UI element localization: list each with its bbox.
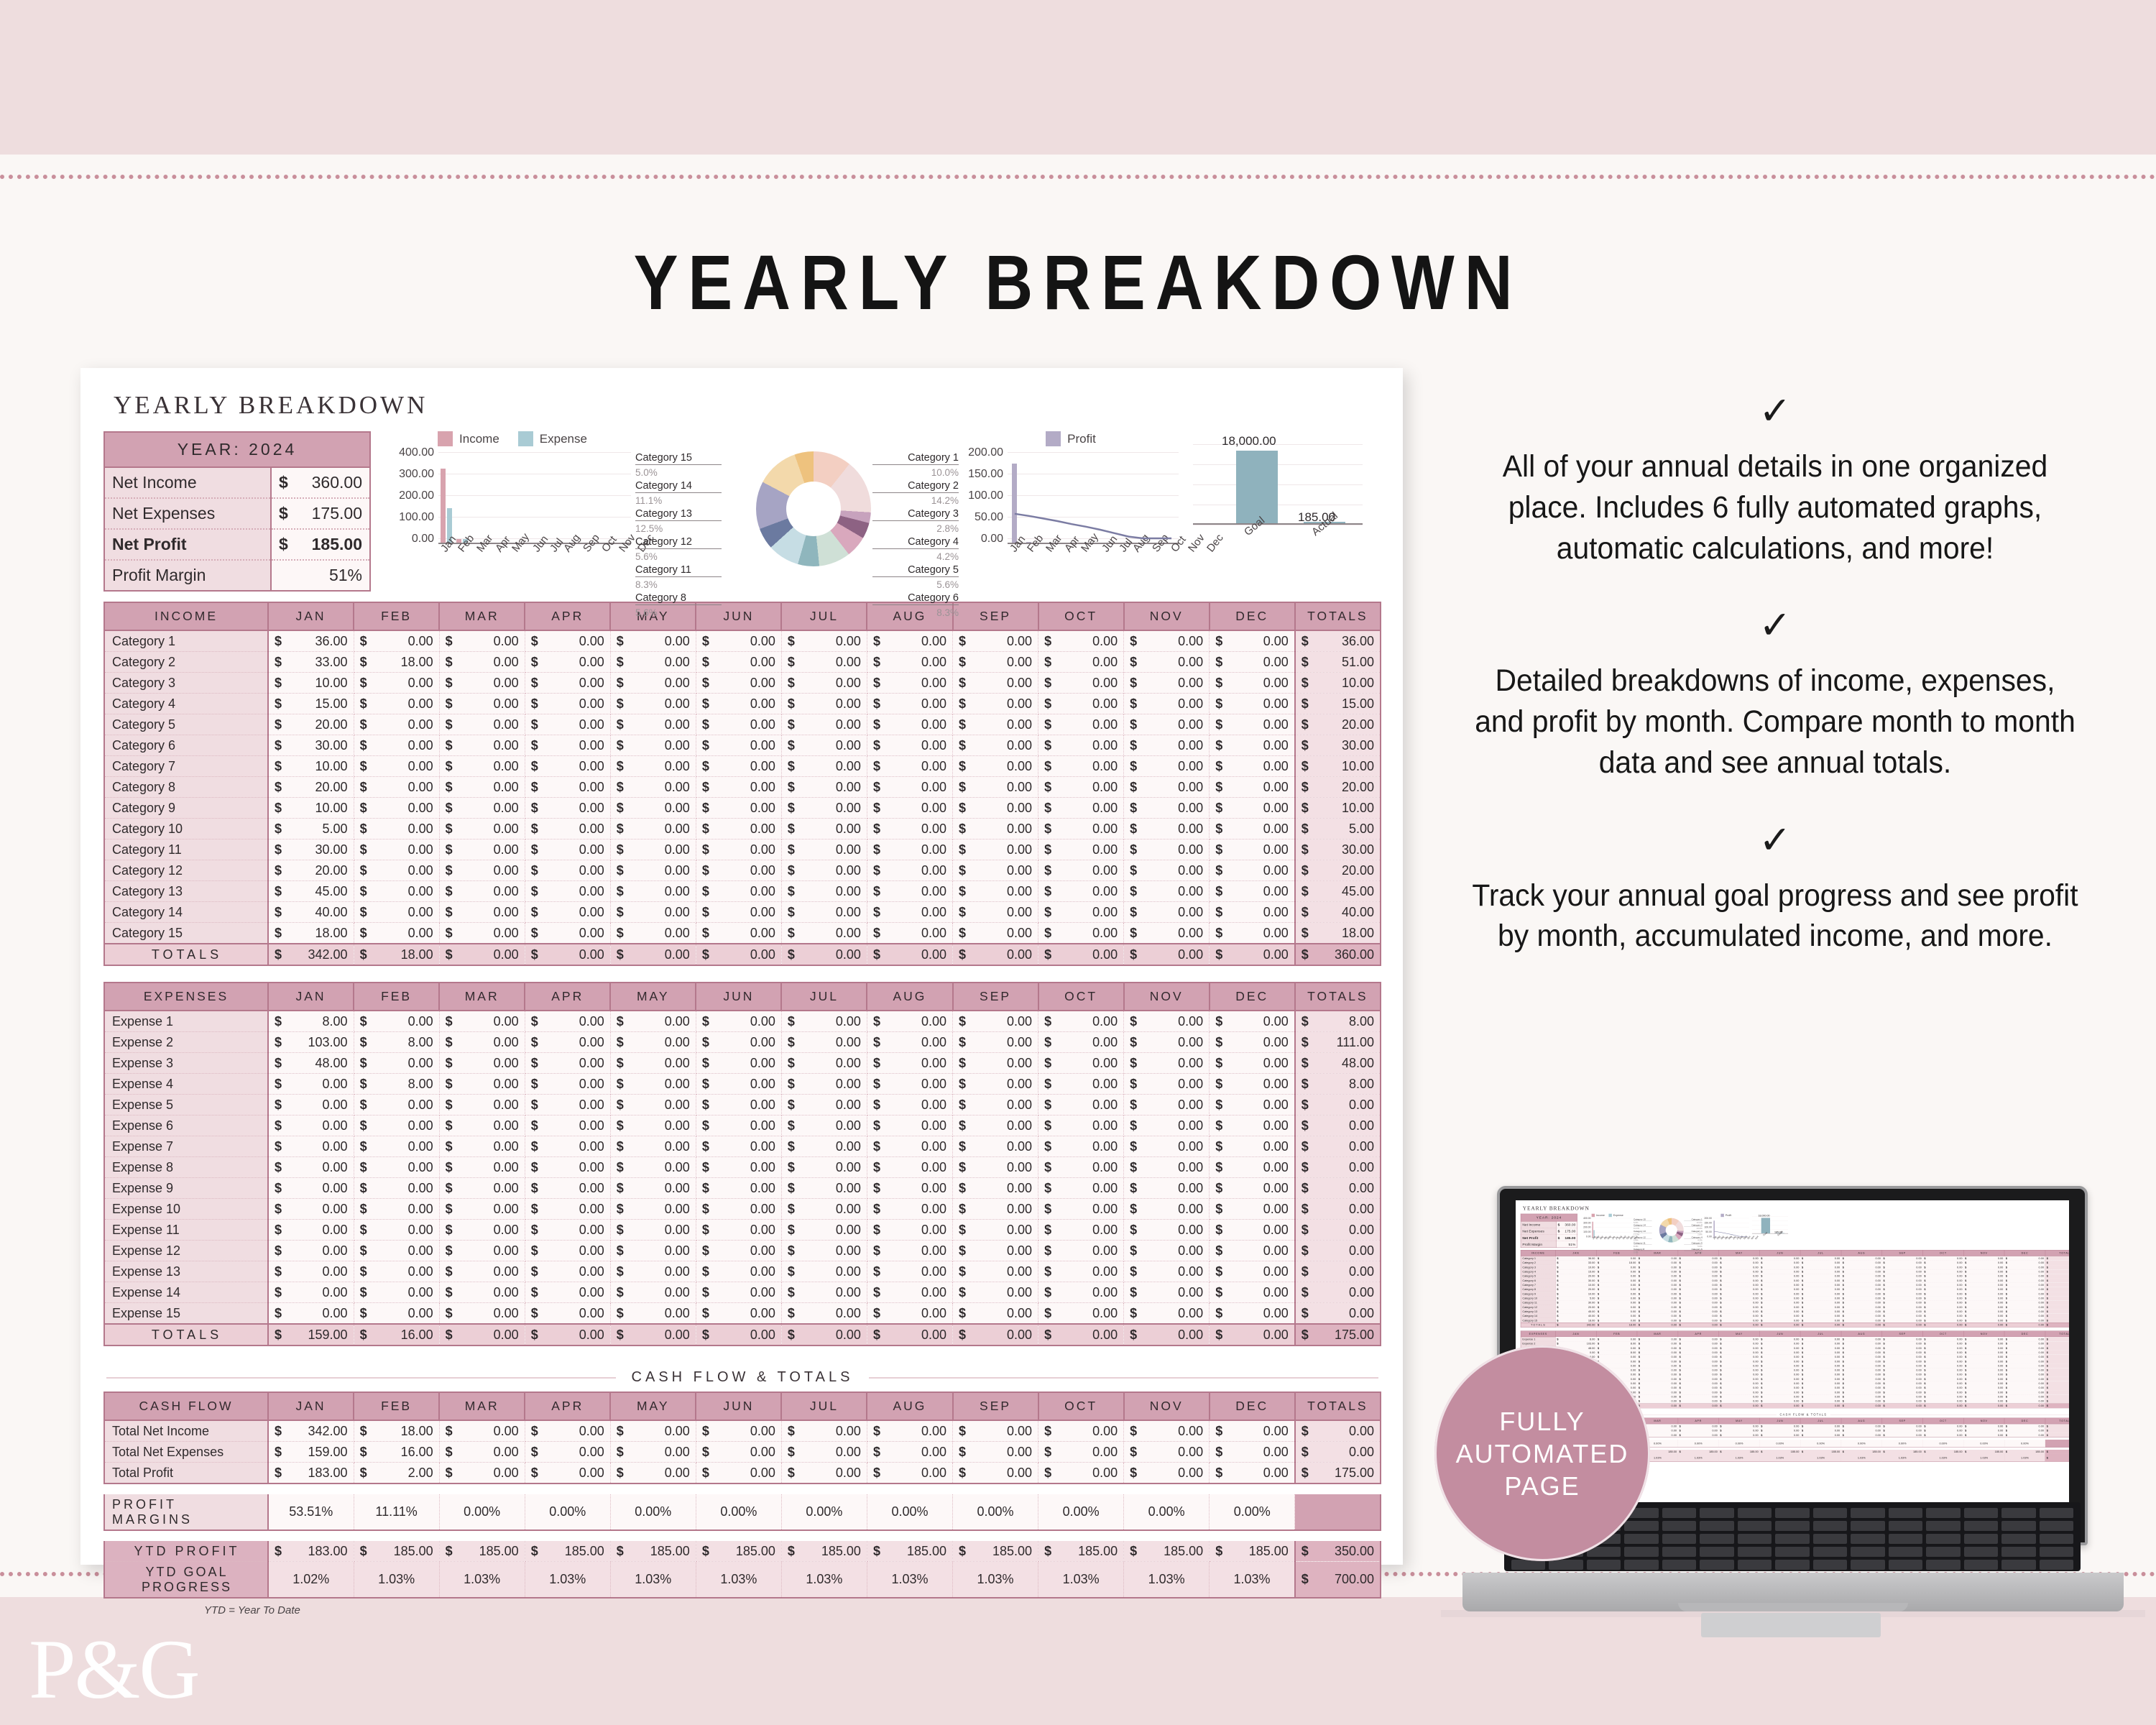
cell-value[interactable]: $0.00 bbox=[1038, 798, 1124, 819]
cell-value[interactable]: $0.00 bbox=[867, 839, 952, 860]
cell-value[interactable]: $0.00 bbox=[354, 1095, 439, 1115]
cell-value[interactable]: $0.00 bbox=[781, 1095, 867, 1115]
cell-value[interactable]: $0.00 bbox=[1210, 1053, 1295, 1074]
cell-value[interactable]: $0.00 bbox=[610, 673, 696, 694]
cell-value[interactable]: $0.00 bbox=[610, 1095, 696, 1115]
cell-value[interactable]: $0.00 bbox=[696, 1095, 781, 1115]
cell-value[interactable]: $0.00 bbox=[781, 1220, 867, 1241]
cell-value[interactable]: $0.00 bbox=[1038, 777, 1124, 798]
cell-value[interactable]: $36.00 bbox=[268, 630, 354, 652]
cell-value[interactable]: $0.00 bbox=[439, 798, 525, 819]
cell-value[interactable]: $0.00 bbox=[439, 630, 525, 652]
cell-value[interactable]: $0.00 bbox=[867, 1241, 952, 1261]
cell-value[interactable]: $0.00 bbox=[1124, 735, 1210, 756]
cell-value[interactable]: $0.00 bbox=[953, 1136, 1038, 1157]
cell-value[interactable]: $0.00 bbox=[953, 902, 1038, 923]
cell-value[interactable]: $0.00 bbox=[1124, 839, 1210, 860]
cell-value[interactable]: $0.00 bbox=[867, 881, 952, 902]
cell-value[interactable]: $0.00 bbox=[781, 1282, 867, 1303]
cell-value[interactable]: $0.00 bbox=[953, 777, 1038, 798]
cell-value[interactable]: $0.00 bbox=[354, 1303, 439, 1325]
cell-value[interactable]: $0.00 bbox=[610, 1032, 696, 1053]
cell-value[interactable]: $0.00 bbox=[1210, 1011, 1295, 1032]
cell-value[interactable]: $30.00 bbox=[268, 839, 354, 860]
cell-value[interactable]: $0.00 bbox=[696, 1011, 781, 1032]
cell-value[interactable]: $0.00 bbox=[781, 902, 867, 923]
cell-value[interactable]: $0.00 bbox=[1124, 819, 1210, 839]
cell-value[interactable]: $0.00 bbox=[696, 735, 781, 756]
cell-value[interactable]: $0.00 bbox=[867, 1157, 952, 1178]
cell-value[interactable]: $0.00 bbox=[1210, 798, 1295, 819]
cell-value[interactable]: $0.00 bbox=[439, 1074, 525, 1095]
cell-value[interactable]: $0.00 bbox=[1124, 777, 1210, 798]
cell-value[interactable]: $0.00 bbox=[867, 819, 952, 839]
cell-value[interactable]: $0.00 bbox=[268, 1303, 354, 1325]
cell-value[interactable]: $0.00 bbox=[696, 1282, 781, 1303]
cell-value[interactable]: $0.00 bbox=[867, 1282, 952, 1303]
cell-value[interactable]: $0.00 bbox=[1124, 902, 1210, 923]
cell-value[interactable]: $0.00 bbox=[867, 923, 952, 944]
cell-value[interactable]: $0.00 bbox=[696, 714, 781, 735]
cell-value[interactable]: $0.00 bbox=[696, 1261, 781, 1282]
cell-value[interactable]: $0.00 bbox=[354, 902, 439, 923]
cell-value[interactable]: $0.00 bbox=[696, 819, 781, 839]
cell-value[interactable]: $0.00 bbox=[354, 673, 439, 694]
cell-value[interactable]: $0.00 bbox=[1124, 1115, 1210, 1136]
cell-value[interactable]: $0.00 bbox=[1038, 1241, 1124, 1261]
cell-value[interactable]: $18.00 bbox=[354, 652, 439, 673]
cell-value[interactable]: $0.00 bbox=[610, 881, 696, 902]
cell-value[interactable]: $0.00 bbox=[1124, 1241, 1210, 1261]
cell-value[interactable]: $0.00 bbox=[1124, 1220, 1210, 1241]
cell-value[interactable]: $0.00 bbox=[1210, 714, 1295, 735]
cell-value[interactable]: $0.00 bbox=[525, 1115, 610, 1136]
cell-value[interactable]: $0.00 bbox=[696, 1115, 781, 1136]
cell-value[interactable]: $0.00 bbox=[781, 1303, 867, 1325]
cell-value[interactable]: $0.00 bbox=[1038, 839, 1124, 860]
cell-value[interactable]: $18.00 bbox=[268, 923, 354, 944]
cell-value[interactable]: $0.00 bbox=[610, 694, 696, 714]
cell-value[interactable]: $0.00 bbox=[354, 1220, 439, 1241]
cell-value[interactable]: $0.00 bbox=[610, 777, 696, 798]
cell-value[interactable]: $0.00 bbox=[1038, 1032, 1124, 1053]
cell-value[interactable]: $0.00 bbox=[354, 1241, 439, 1261]
cell-value[interactable]: $0.00 bbox=[610, 1282, 696, 1303]
cell-value[interactable]: $0.00 bbox=[781, 1074, 867, 1095]
cell-value[interactable]: $0.00 bbox=[1124, 860, 1210, 881]
cell-value[interactable]: $0.00 bbox=[354, 819, 439, 839]
cell-value[interactable]: $0.00 bbox=[953, 1199, 1038, 1220]
cell-value[interactable]: $0.00 bbox=[781, 839, 867, 860]
cell-value[interactable]: $0.00 bbox=[953, 735, 1038, 756]
cell-value[interactable]: $0.00 bbox=[1038, 1115, 1124, 1136]
cell-value[interactable]: $0.00 bbox=[781, 923, 867, 944]
cell-value[interactable]: $0.00 bbox=[439, 860, 525, 881]
cell-value[interactable]: $33.00 bbox=[268, 652, 354, 673]
cell-value[interactable]: $0.00 bbox=[439, 923, 525, 944]
cell-value[interactable]: $0.00 bbox=[1210, 1032, 1295, 1053]
cell-value[interactable]: $0.00 bbox=[1124, 694, 1210, 714]
cell-value[interactable]: $0.00 bbox=[525, 860, 610, 881]
cell-value[interactable]: $0.00 bbox=[953, 1053, 1038, 1074]
cell-value[interactable]: $0.00 bbox=[268, 1178, 354, 1199]
cell-value[interactable]: $0.00 bbox=[610, 1178, 696, 1199]
cell-value[interactable]: $0.00 bbox=[867, 630, 952, 652]
cell-value[interactable]: $0.00 bbox=[867, 1074, 952, 1095]
cell-value[interactable]: $0.00 bbox=[525, 1303, 610, 1325]
cell-value[interactable]: $0.00 bbox=[781, 1157, 867, 1178]
cell-value[interactable]: $0.00 bbox=[1124, 1074, 1210, 1095]
cell-value[interactable]: $0.00 bbox=[610, 902, 696, 923]
cell-value[interactable]: $0.00 bbox=[439, 1261, 525, 1282]
cell-value[interactable]: $0.00 bbox=[1124, 1261, 1210, 1282]
cell-value[interactable]: $0.00 bbox=[610, 839, 696, 860]
cell-value[interactable]: $0.00 bbox=[1210, 630, 1295, 652]
cell-value[interactable]: $0.00 bbox=[781, 1032, 867, 1053]
cell-value[interactable]: $0.00 bbox=[268, 1241, 354, 1261]
cell-value[interactable]: $0.00 bbox=[1038, 1074, 1124, 1095]
cell-value[interactable]: $0.00 bbox=[953, 673, 1038, 694]
cell-value[interactable]: $0.00 bbox=[953, 630, 1038, 652]
cell-value[interactable]: $0.00 bbox=[439, 1115, 525, 1136]
cell-value[interactable]: $0.00 bbox=[781, 714, 867, 735]
cell-value[interactable]: $0.00 bbox=[525, 673, 610, 694]
cell-value[interactable]: $0.00 bbox=[696, 923, 781, 944]
cell-value[interactable]: $0.00 bbox=[781, 798, 867, 819]
cell-value[interactable]: $0.00 bbox=[610, 714, 696, 735]
cell-value[interactable]: $0.00 bbox=[268, 1261, 354, 1282]
cell-value[interactable]: $0.00 bbox=[781, 819, 867, 839]
cell-value[interactable]: $0.00 bbox=[1038, 630, 1124, 652]
cell-value[interactable]: $0.00 bbox=[781, 777, 867, 798]
cell-value[interactable]: $0.00 bbox=[953, 860, 1038, 881]
cell-value[interactable]: $0.00 bbox=[439, 881, 525, 902]
cell-value[interactable]: $0.00 bbox=[439, 902, 525, 923]
cell-value[interactable]: $20.00 bbox=[268, 860, 354, 881]
cell-value[interactable]: $0.00 bbox=[610, 1199, 696, 1220]
cell-value[interactable]: $0.00 bbox=[696, 1157, 781, 1178]
cell-value[interactable]: $0.00 bbox=[1124, 1157, 1210, 1178]
cell-value[interactable]: $0.00 bbox=[439, 1157, 525, 1178]
cell-value[interactable]: $0.00 bbox=[439, 1053, 525, 1074]
cell-value[interactable]: $0.00 bbox=[696, 1074, 781, 1095]
cell-value[interactable]: $0.00 bbox=[268, 1115, 354, 1136]
cell-value[interactable]: $20.00 bbox=[268, 714, 354, 735]
cell-value[interactable]: $0.00 bbox=[696, 881, 781, 902]
cell-value[interactable]: $0.00 bbox=[696, 1241, 781, 1261]
cell-value[interactable]: $0.00 bbox=[1210, 735, 1295, 756]
cell-value[interactable]: $0.00 bbox=[867, 1220, 952, 1241]
cell-value[interactable]: $0.00 bbox=[268, 1157, 354, 1178]
cell-value[interactable]: $0.00 bbox=[953, 881, 1038, 902]
cell-value[interactable]: $0.00 bbox=[354, 923, 439, 944]
cell-value[interactable]: $0.00 bbox=[354, 714, 439, 735]
cell-value[interactable]: $0.00 bbox=[439, 756, 525, 777]
cell-value[interactable]: $0.00 bbox=[696, 756, 781, 777]
cell-value[interactable]: $0.00 bbox=[953, 652, 1038, 673]
cell-value[interactable]: $0.00 bbox=[1210, 839, 1295, 860]
cell-value[interactable]: $0.00 bbox=[867, 798, 952, 819]
cell-value[interactable]: $48.00 bbox=[268, 1053, 354, 1074]
cell-value[interactable]: $0.00 bbox=[1210, 1136, 1295, 1157]
cell-value[interactable]: $0.00 bbox=[1038, 756, 1124, 777]
cell-value[interactable]: $0.00 bbox=[1124, 1032, 1210, 1053]
cell-value[interactable]: $0.00 bbox=[610, 756, 696, 777]
cell-value[interactable]: $0.00 bbox=[610, 1074, 696, 1095]
cell-value[interactable]: $0.00 bbox=[439, 735, 525, 756]
cell-value[interactable]: $0.00 bbox=[610, 1261, 696, 1282]
cell-value[interactable]: $0.00 bbox=[354, 839, 439, 860]
cell-value[interactable]: $0.00 bbox=[439, 1178, 525, 1199]
cell-value[interactable]: $0.00 bbox=[867, 1115, 952, 1136]
cell-value[interactable]: $0.00 bbox=[525, 881, 610, 902]
cell-value[interactable]: $0.00 bbox=[867, 1053, 952, 1074]
cell-value[interactable]: $0.00 bbox=[953, 714, 1038, 735]
cell-value[interactable]: $0.00 bbox=[867, 1261, 952, 1282]
cell-value[interactable]: $0.00 bbox=[354, 756, 439, 777]
cell-value[interactable]: $0.00 bbox=[867, 1136, 952, 1157]
cell-value[interactable]: $0.00 bbox=[1124, 798, 1210, 819]
cell-value[interactable]: $0.00 bbox=[439, 819, 525, 839]
cell-value[interactable]: $0.00 bbox=[354, 1115, 439, 1136]
cell-value[interactable]: $0.00 bbox=[525, 1241, 610, 1261]
cell-value[interactable]: $0.00 bbox=[1124, 630, 1210, 652]
cell-value[interactable]: $0.00 bbox=[1210, 1157, 1295, 1178]
cell-value[interactable]: $0.00 bbox=[525, 735, 610, 756]
cell-value[interactable]: $0.00 bbox=[867, 652, 952, 673]
cell-value[interactable]: $0.00 bbox=[1210, 1074, 1295, 1095]
cell-value[interactable]: $0.00 bbox=[439, 1032, 525, 1053]
cell-value[interactable]: $0.00 bbox=[439, 1095, 525, 1115]
cell-value[interactable]: $0.00 bbox=[268, 1282, 354, 1303]
cell-value[interactable]: $0.00 bbox=[1210, 1178, 1295, 1199]
cell-value[interactable]: $0.00 bbox=[525, 902, 610, 923]
cell-value[interactable]: $0.00 bbox=[439, 1011, 525, 1032]
cell-value[interactable]: $0.00 bbox=[525, 1074, 610, 1095]
cell-value[interactable]: $0.00 bbox=[610, 1136, 696, 1157]
cell-value[interactable]: $0.00 bbox=[1210, 1303, 1295, 1325]
cell-value[interactable]: $0.00 bbox=[781, 694, 867, 714]
cell-value[interactable]: $0.00 bbox=[354, 881, 439, 902]
cell-value[interactable]: $0.00 bbox=[1038, 694, 1124, 714]
cell-value[interactable]: $0.00 bbox=[525, 1011, 610, 1032]
cell-value[interactable]: $0.00 bbox=[696, 1053, 781, 1074]
cell-value[interactable]: $0.00 bbox=[1038, 1199, 1124, 1220]
cell-value[interactable]: $0.00 bbox=[610, 860, 696, 881]
cell-value[interactable]: $0.00 bbox=[439, 694, 525, 714]
cell-value[interactable]: $0.00 bbox=[525, 1220, 610, 1241]
cell-value[interactable]: $0.00 bbox=[867, 1199, 952, 1220]
cell-value[interactable]: $0.00 bbox=[867, 1095, 952, 1115]
cell-value[interactable]: $0.00 bbox=[354, 1282, 439, 1303]
cell-value[interactable]: $0.00 bbox=[1124, 1178, 1210, 1199]
cell-value[interactable]: $0.00 bbox=[610, 1303, 696, 1325]
cell-value[interactable]: $0.00 bbox=[696, 1178, 781, 1199]
cell-value[interactable]: $10.00 bbox=[268, 798, 354, 819]
cell-value[interactable]: $0.00 bbox=[525, 1095, 610, 1115]
cell-value[interactable]: $0.00 bbox=[696, 1220, 781, 1241]
cell-value[interactable]: $0.00 bbox=[525, 839, 610, 860]
cell-value[interactable]: $0.00 bbox=[610, 819, 696, 839]
cell-value[interactable]: $0.00 bbox=[696, 839, 781, 860]
cell-value[interactable]: $0.00 bbox=[525, 694, 610, 714]
cell-value[interactable]: $0.00 bbox=[439, 1136, 525, 1157]
cell-value[interactable]: $0.00 bbox=[696, 798, 781, 819]
cell-value[interactable]: $0.00 bbox=[525, 652, 610, 673]
cell-value[interactable]: $0.00 bbox=[953, 1303, 1038, 1325]
cell-value[interactable]: $0.00 bbox=[696, 694, 781, 714]
cell-value[interactable]: $0.00 bbox=[1038, 860, 1124, 881]
cell-value[interactable]: $0.00 bbox=[1038, 735, 1124, 756]
cell-value[interactable]: $0.00 bbox=[1038, 902, 1124, 923]
cell-value[interactable]: $0.00 bbox=[953, 923, 1038, 944]
cell-value[interactable]: $0.00 bbox=[1210, 1282, 1295, 1303]
cell-value[interactable]: $0.00 bbox=[1124, 714, 1210, 735]
cell-value[interactable]: $0.00 bbox=[867, 1178, 952, 1199]
cell-value[interactable]: $0.00 bbox=[1038, 714, 1124, 735]
cell-value[interactable]: $0.00 bbox=[1210, 1095, 1295, 1115]
cell-value[interactable]: $0.00 bbox=[1210, 819, 1295, 839]
cell-value[interactable]: $0.00 bbox=[610, 735, 696, 756]
cell-value[interactable]: $0.00 bbox=[781, 1261, 867, 1282]
cell-value[interactable]: $0.00 bbox=[268, 1136, 354, 1157]
cell-value[interactable]: $0.00 bbox=[354, 630, 439, 652]
cell-value[interactable]: $0.00 bbox=[354, 777, 439, 798]
cell-value[interactable]: $0.00 bbox=[354, 1136, 439, 1157]
cell-value[interactable]: $0.00 bbox=[354, 798, 439, 819]
cell-value[interactable]: $0.00 bbox=[525, 1261, 610, 1282]
cell-value[interactable]: $0.00 bbox=[439, 673, 525, 694]
cell-value[interactable]: $0.00 bbox=[1210, 1199, 1295, 1220]
cell-value[interactable]: $0.00 bbox=[696, 1032, 781, 1053]
cell-value[interactable]: $0.00 bbox=[1124, 923, 1210, 944]
cell-value[interactable]: $0.00 bbox=[1124, 1199, 1210, 1220]
cell-value[interactable]: $0.00 bbox=[610, 1220, 696, 1241]
cell-value[interactable]: $0.00 bbox=[354, 1157, 439, 1178]
cell-value[interactable]: $0.00 bbox=[696, 902, 781, 923]
cell-value[interactable]: $0.00 bbox=[867, 1011, 952, 1032]
cell-value[interactable]: $0.00 bbox=[354, 694, 439, 714]
cell-value[interactable]: $0.00 bbox=[867, 1303, 952, 1325]
cell-value[interactable]: $0.00 bbox=[1124, 1136, 1210, 1157]
cell-value[interactable]: $0.00 bbox=[354, 1199, 439, 1220]
cell-value[interactable]: $30.00 bbox=[268, 735, 354, 756]
cell-value[interactable]: $0.00 bbox=[525, 1199, 610, 1220]
cell-value[interactable]: $0.00 bbox=[953, 1220, 1038, 1241]
cell-value[interactable]: $0.00 bbox=[953, 1282, 1038, 1303]
cell-value[interactable]: $0.00 bbox=[525, 1178, 610, 1199]
cell-value[interactable]: $0.00 bbox=[867, 902, 952, 923]
cell-value[interactable]: $0.00 bbox=[610, 652, 696, 673]
cell-value[interactable]: $0.00 bbox=[1038, 1136, 1124, 1157]
cell-value[interactable]: $0.00 bbox=[781, 735, 867, 756]
cell-value[interactable]: $0.00 bbox=[953, 1241, 1038, 1261]
cell-value[interactable]: $0.00 bbox=[953, 798, 1038, 819]
cell-value[interactable]: $0.00 bbox=[525, 819, 610, 839]
cell-value[interactable]: $0.00 bbox=[1210, 902, 1295, 923]
cell-value[interactable]: $5.00 bbox=[268, 819, 354, 839]
cell-value[interactable]: $0.00 bbox=[439, 839, 525, 860]
cell-value[interactable]: $0.00 bbox=[1038, 881, 1124, 902]
cell-value[interactable]: $0.00 bbox=[1124, 1282, 1210, 1303]
cell-value[interactable]: $0.00 bbox=[953, 1074, 1038, 1095]
cell-value[interactable]: $0.00 bbox=[525, 1157, 610, 1178]
cell-value[interactable]: $0.00 bbox=[1210, 1241, 1295, 1261]
cell-value[interactable]: $10.00 bbox=[268, 756, 354, 777]
cell-value[interactable]: $0.00 bbox=[1124, 881, 1210, 902]
cell-value[interactable]: $0.00 bbox=[867, 714, 952, 735]
cell-value[interactable]: $0.00 bbox=[781, 1199, 867, 1220]
cell-value[interactable]: $0.00 bbox=[1124, 652, 1210, 673]
cell-value[interactable]: $0.00 bbox=[696, 1136, 781, 1157]
cell-value[interactable]: $0.00 bbox=[867, 860, 952, 881]
cell-value[interactable]: $0.00 bbox=[1038, 1261, 1124, 1282]
cell-value[interactable]: $0.00 bbox=[867, 694, 952, 714]
cell-value[interactable]: $0.00 bbox=[1038, 1095, 1124, 1115]
cell-value[interactable]: $0.00 bbox=[525, 777, 610, 798]
cell-value[interactable]: $0.00 bbox=[1210, 1115, 1295, 1136]
cell-value[interactable]: $0.00 bbox=[953, 756, 1038, 777]
cell-value[interactable]: $0.00 bbox=[953, 1261, 1038, 1282]
cell-value[interactable]: $0.00 bbox=[781, 673, 867, 694]
cell-value[interactable]: $0.00 bbox=[1038, 1053, 1124, 1074]
cell-value[interactable]: $0.00 bbox=[1210, 652, 1295, 673]
cell-value[interactable]: $0.00 bbox=[1038, 1282, 1124, 1303]
cell-value[interactable]: $0.00 bbox=[1124, 673, 1210, 694]
cell-value[interactable]: $0.00 bbox=[953, 1032, 1038, 1053]
cell-value[interactable]: $0.00 bbox=[1210, 881, 1295, 902]
cell-value[interactable]: $8.00 bbox=[354, 1074, 439, 1095]
cell-value[interactable]: $0.00 bbox=[354, 860, 439, 881]
cell-value[interactable]: $0.00 bbox=[1210, 1261, 1295, 1282]
cell-value[interactable]: $0.00 bbox=[525, 923, 610, 944]
cell-value[interactable]: $0.00 bbox=[439, 1282, 525, 1303]
cell-value[interactable]: $0.00 bbox=[696, 673, 781, 694]
cell-value[interactable]: $0.00 bbox=[781, 652, 867, 673]
cell-value[interactable]: $0.00 bbox=[439, 714, 525, 735]
cell-value[interactable]: $0.00 bbox=[354, 1178, 439, 1199]
cell-value[interactable]: $0.00 bbox=[1210, 673, 1295, 694]
cell-value[interactable]: $0.00 bbox=[696, 777, 781, 798]
cell-value[interactable]: $0.00 bbox=[525, 1032, 610, 1053]
cell-value[interactable]: $0.00 bbox=[1210, 756, 1295, 777]
cell-value[interactable]: $0.00 bbox=[610, 1157, 696, 1178]
cell-value[interactable]: $0.00 bbox=[1210, 860, 1295, 881]
cell-value[interactable]: $0.00 bbox=[953, 1095, 1038, 1115]
cell-value[interactable]: $0.00 bbox=[610, 1115, 696, 1136]
cell-value[interactable]: $0.00 bbox=[953, 819, 1038, 839]
cell-value[interactable]: $0.00 bbox=[696, 652, 781, 673]
cell-value[interactable]: $0.00 bbox=[1124, 1011, 1210, 1032]
cell-value[interactable]: $0.00 bbox=[1210, 694, 1295, 714]
cell-value[interactable]: $0.00 bbox=[439, 652, 525, 673]
cell-value[interactable]: $0.00 bbox=[953, 1178, 1038, 1199]
cell-value[interactable]: $0.00 bbox=[610, 630, 696, 652]
cell-value[interactable]: $0.00 bbox=[953, 1157, 1038, 1178]
cell-value[interactable]: $0.00 bbox=[610, 923, 696, 944]
cell-value[interactable]: $0.00 bbox=[867, 735, 952, 756]
cell-value[interactable]: $0.00 bbox=[781, 881, 867, 902]
cell-value[interactable]: $0.00 bbox=[867, 1032, 952, 1053]
cell-value[interactable]: $0.00 bbox=[953, 694, 1038, 714]
cell-value[interactable]: $0.00 bbox=[1124, 1053, 1210, 1074]
cell-value[interactable]: $0.00 bbox=[439, 1220, 525, 1241]
cell-value[interactable]: $0.00 bbox=[867, 673, 952, 694]
cell-value[interactable]: $0.00 bbox=[354, 1053, 439, 1074]
cell-value[interactable]: $0.00 bbox=[1124, 1303, 1210, 1325]
cell-value[interactable]: $0.00 bbox=[1038, 1220, 1124, 1241]
cell-value[interactable]: $0.00 bbox=[953, 1115, 1038, 1136]
